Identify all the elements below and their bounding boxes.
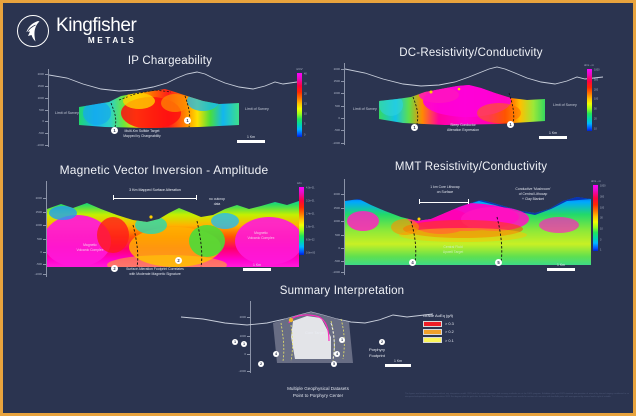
cb-t4: 10 <box>600 228 603 231</box>
marker-1b: 1 <box>184 117 191 124</box>
panel-mvi-amplitude: Magnetic Vector Inversion - Amplitude 20… <box>25 163 321 281</box>
core-target-label: Core Target <box>293 331 337 337</box>
panel-title: Magnetic Vector Inversion - Amplitude <box>29 163 299 177</box>
brand-logo: Kingfisher METALS <box>17 15 137 47</box>
cb-t6: 0 <box>304 134 305 137</box>
disclaimer-text: The figures and datasets are shown witho… <box>405 393 629 398</box>
marker-4: 4 <box>409 259 416 266</box>
marker-s1: 1 <box>232 339 238 345</box>
mmt-plot: 2000 1500 1000 500 0 -500 -1000 <box>325 179 611 275</box>
magnetic-volcanic-complex-right: Magnetic Volcanic Complex <box>235 231 287 241</box>
panel-summary-interpretation: Summary Interpretation 2000 1000 0 -1000 <box>233 285 493 377</box>
cb-t4: 50 <box>594 108 597 111</box>
ip-plot: 2000 1500 1000 500 0 -500 -1000 <box>29 69 297 147</box>
legend-swatch-orange <box>423 329 442 336</box>
ip-colorbar-label: mV/V <box>296 68 303 71</box>
marker-2b: 2 <box>175 257 182 264</box>
core-lithocap-bracket <box>419 199 469 204</box>
porphyry-footprint-label: Porphyry Footprint <box>357 347 397 359</box>
cb-t2: 100 <box>600 207 604 210</box>
cb-t2: 2.4e-01 <box>306 213 314 216</box>
mvi-colorbar <box>299 187 304 255</box>
cb-t5: 20 <box>594 118 597 121</box>
legend-row-1: > 0.3 <box>423 321 454 328</box>
bracket-label: 3 Km Mapped Surface Alteration <box>97 188 213 192</box>
cb-t3: 100 <box>594 98 598 101</box>
marker-s6: 2 <box>258 361 264 367</box>
limit-of-survey-right: Limit of Survey <box>245 107 269 111</box>
scale-bar: 1 Km <box>547 263 575 271</box>
y-axis: 2000 1500 1000 500 0 -500 -1000 <box>27 181 47 277</box>
cb-t3: 15 <box>304 103 307 106</box>
mmt-annotation: Central Fluid Upwell Target <box>423 245 483 255</box>
mvi-colorbar-label: A/m <box>297 182 302 185</box>
mvi-plot: 2000 1500 1000 500 0 -500 -1000 <box>27 181 299 277</box>
cb-t4: 8.0e-02 <box>306 239 314 242</box>
scale-bar: 1 Km <box>237 135 265 143</box>
panel-mmt-resistivity: MMT Resistivity/Conductivity 2000 1500 1… <box>325 161 631 279</box>
ip-annotation: Multi-Km Sulfide Target Mapped by Charge… <box>97 129 187 139</box>
scale-bar: 1 Km <box>539 131 567 139</box>
limit-of-survey-left: Limit of Survey <box>353 107 377 111</box>
cb-t2: 200 <box>594 89 598 92</box>
legend-title: Grade AuEq (g/t) <box>423 313 454 318</box>
marker-s4: 4 <box>273 351 279 357</box>
cb-t0: 1000 <box>600 185 606 188</box>
cb-t0: 40 <box>304 73 307 76</box>
dc-colorbar-label: ohm - m <box>584 64 594 67</box>
mushroom-annotation: Conductive 'Mushroom' of Central Lithoca… <box>491 187 575 202</box>
cb-t0: 4.0e-01 <box>306 187 314 190</box>
limit-of-survey-right: Limit of Survey <box>553 103 577 107</box>
legend-row-2: > 0.2 <box>423 329 454 336</box>
cb-t1: 500 <box>594 79 598 82</box>
cb-t1: 30 <box>304 83 307 86</box>
legend-label-2: > 0.2 <box>445 329 454 334</box>
panel-title: Summary Interpretation <box>247 285 437 297</box>
brand-name: Kingfisher <box>56 16 137 35</box>
dc-inversion-section <box>379 83 545 127</box>
panel-dc-resistivity: DC-Resistivity/Conductivity 2000 1500 10… <box>325 47 631 147</box>
magnetic-volcanic-complex-left: Magnetic Volcanic Complex <box>65 243 115 253</box>
marker-s3: 1 <box>339 337 345 343</box>
caption-line-1: Multiple Geophysical Datasets <box>3 385 633 392</box>
marker-s5: 4 <box>334 351 340 357</box>
cb-t5: 0.0e+00 <box>306 252 315 255</box>
marker-s8: 2 <box>379 339 385 345</box>
cb-t1: 3.2e-01 <box>306 200 314 203</box>
surface-alteration-bracket <box>113 195 197 200</box>
grade-legend: Grade AuEq (g/t) > 0.3 > 0.2 > 0.1 <box>423 313 454 345</box>
marker-5: 5 <box>495 259 502 266</box>
cb-t5: 3 <box>600 239 601 242</box>
mmt-colorbar <box>593 185 598 251</box>
ip-colorbar <box>297 73 302 137</box>
dc-plot: 2000 1500 1000 500 0 -500 -1000 <box>325 63 605 145</box>
scale-bar: 1 Km <box>385 359 411 367</box>
marker-1b: 1 <box>507 121 514 128</box>
cb-t3: 30 <box>600 217 603 220</box>
legend-row-3: > 0.1 <box>423 337 454 344</box>
marker-1a: 1 <box>411 124 418 131</box>
cb-t2: 20 <box>304 93 307 96</box>
dc-annotation: Steep Conductor Alteration Expression <box>423 123 503 133</box>
mvi-annotation: Surface Alteration Footprint Correlates … <box>91 267 219 277</box>
ip-inversion-section <box>79 87 239 129</box>
cb-t5: 5 <box>304 123 305 126</box>
y-axis: 2000 1500 1000 500 0 -500 -1000 <box>325 179 345 275</box>
cb-t6: 1 <box>600 249 601 252</box>
legend-label-3: > 0.1 <box>445 338 454 343</box>
y-axis: 2000 1500 1000 500 0 -500 -1000 <box>29 69 49 147</box>
panel-title: IP Chargeability <box>35 55 305 67</box>
cb-t4: 10 <box>304 113 307 116</box>
legend-label-1: > 0.3 <box>445 321 454 326</box>
dc-colorbar <box>587 69 592 131</box>
y-axis: 2000 1500 1000 500 0 -500 -1000 <box>325 63 345 145</box>
limit-of-survey-left: Limit of Survey <box>55 111 79 115</box>
cb-t0: 1000 <box>594 69 600 72</box>
legend-swatch-red <box>423 321 442 328</box>
summary-plot: 2000 1000 0 -1000 Core Target Porphyry <box>233 301 433 373</box>
cb-t3: 1.6e-01 <box>306 226 314 229</box>
panel-title: DC-Resistivity/Conductivity <box>331 47 611 59</box>
mmt-colorbar-label: ohm - m <box>591 180 601 183</box>
panel-ip-chargeability: IP Chargeability 2000 1500 1000 500 0 -5… <box>25 55 321 150</box>
scale-bar: 1 Km <box>243 263 271 271</box>
legend-swatch-yellow <box>423 337 442 344</box>
marker-s7: 5 <box>331 361 337 367</box>
slide-body: Kingfisher METALS IP Chargeability 2000 … <box>3 3 633 413</box>
marker-s2: 1 <box>241 341 247 347</box>
brand-sub: METALS <box>56 37 137 45</box>
core-lithocap-label: 1 km Core Lithocap on Surface <box>407 185 483 195</box>
cb-t1: 300 <box>600 196 604 199</box>
no-outcrop-note: no outcrop data <box>197 197 237 207</box>
cb-t6: 10 <box>594 128 597 131</box>
kingfisher-bird-icon <box>17 15 49 47</box>
panel-title: MMT Resistivity/Conductivity <box>331 161 611 173</box>
presentation-slide: Kingfisher METALS IP Chargeability 2000 … <box>0 0 636 416</box>
